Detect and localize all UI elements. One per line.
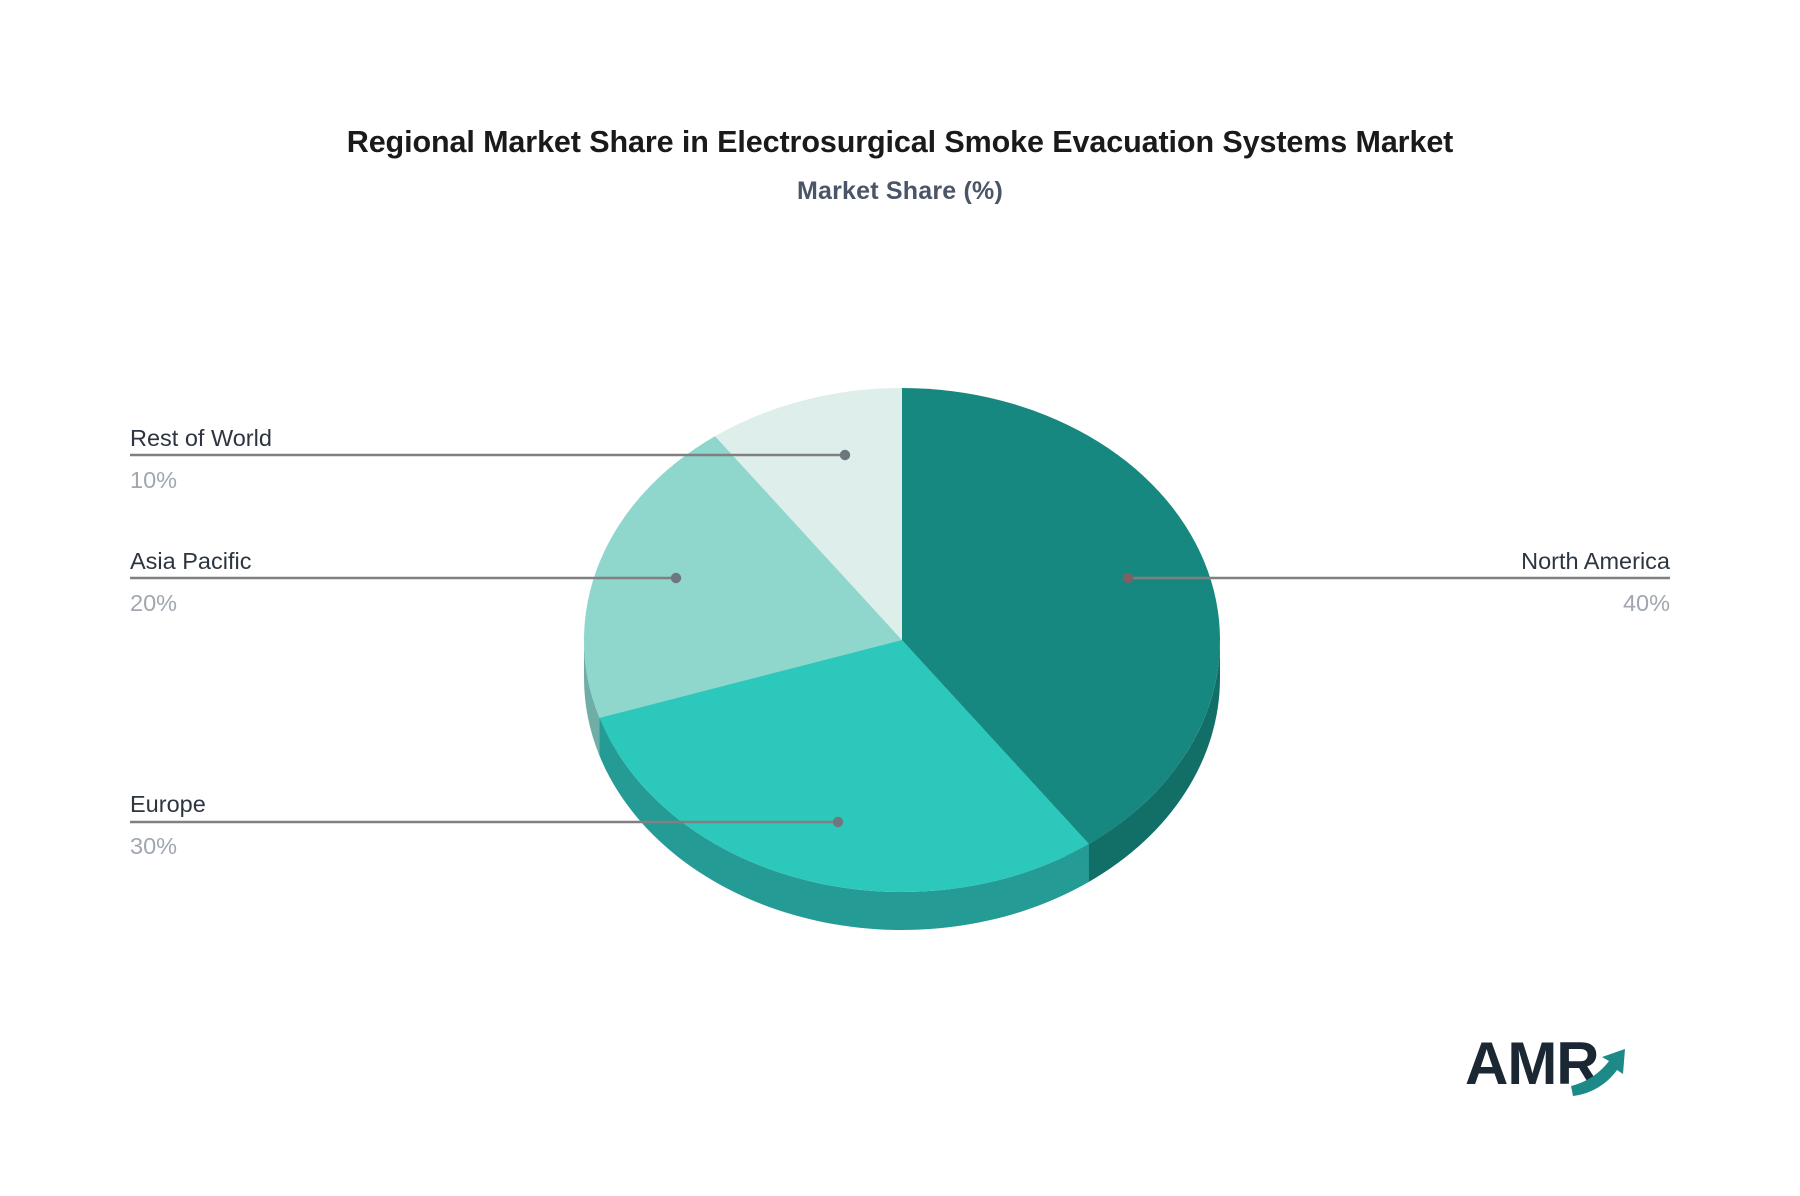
leader-anchor-dot (671, 573, 681, 583)
callout-value-label: 40% (1340, 589, 1670, 618)
pie-slices (584, 388, 1220, 892)
callout-category-label: Rest of World (130, 424, 460, 453)
callout-value-label: 20% (130, 589, 460, 618)
callout-value-label: 10% (130, 466, 460, 495)
leader-anchor-dot (840, 450, 850, 460)
amr-logo: AMR (1465, 1028, 1655, 1100)
leader-anchor-dot (1123, 573, 1133, 583)
callout-rest-of-world: Rest of World 10% (130, 424, 460, 496)
callout-europe: Europe 30% (130, 790, 460, 862)
callout-category-label: North America (1340, 547, 1670, 576)
callout-category-label: Europe (130, 790, 460, 819)
callout-category-label: Asia Pacific (130, 547, 460, 576)
chart-canvas: Regional Market Share in Electrosurgical… (0, 0, 1800, 1196)
callout-value-label: 30% (130, 832, 460, 861)
callout-asia-pacific: Asia Pacific 20% (130, 547, 460, 619)
leader-anchor-dot (833, 817, 843, 827)
callout-north-america: North America 40% (1340, 547, 1670, 619)
